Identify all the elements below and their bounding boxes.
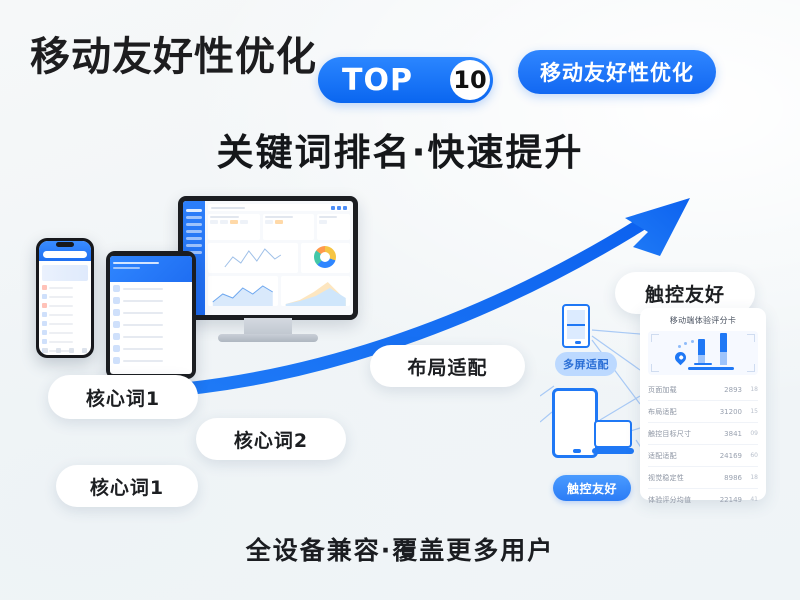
top-badge-word: TOP xyxy=(342,63,413,98)
desktop-monitor-mockup xyxy=(178,196,358,346)
score-card: 移动端体验评分卡 页面加载 2893 18 布局适配 31200 xyxy=(640,308,766,500)
tablet-list xyxy=(110,282,192,372)
score-row-label: 页面加载 xyxy=(648,385,716,395)
device-mockup-group xyxy=(28,196,348,396)
score-row-label: 体验评分均值 xyxy=(648,495,716,505)
score-row-delta: 41 xyxy=(742,496,758,503)
score-row-delta: 15 xyxy=(742,408,758,415)
score-row: 适配适配 24169 60 xyxy=(648,445,758,467)
score-row-label: 布局适配 xyxy=(648,407,716,417)
monitor-stand-base xyxy=(218,334,318,342)
phone-app-header xyxy=(39,241,91,261)
tablet-mockup xyxy=(106,251,196,379)
phone-search-bar xyxy=(43,251,87,258)
score-row: 体验评分均值 22149 41 xyxy=(648,489,758,510)
header-tag-pill: 移动友好性优化 xyxy=(518,50,716,94)
score-row: 布局适配 31200 15 xyxy=(648,401,758,423)
area-chart-small-1 xyxy=(208,276,278,306)
dashboard-body xyxy=(205,201,353,315)
keyword-pill-2: 核心词2 xyxy=(196,418,346,460)
score-row-delta: 18 xyxy=(742,474,758,481)
score-row-value: 2893 xyxy=(716,386,742,394)
keyword-pill-3: 核心词1 xyxy=(56,465,198,507)
top-rank-badge: TOP 10 xyxy=(318,57,493,103)
donut-chart-small xyxy=(301,243,350,273)
keyword-pill-layout-fit: 布局适配 xyxy=(370,345,525,387)
score-row-value: 24169 xyxy=(716,452,742,460)
score-row: 触控目标尺寸 3841 09 xyxy=(648,423,758,445)
page-title: 移动友好性优化 xyxy=(30,24,317,82)
score-row: 页面加载 2893 18 xyxy=(648,379,758,401)
score-row-label: 触控目标尺寸 xyxy=(648,429,716,439)
phone-notch xyxy=(56,242,74,247)
mobile-experience-diagram: 多屏适配 触控友好 移动端体验评分卡 页面加载 2893 xyxy=(540,300,780,515)
laptop-icon xyxy=(592,420,634,458)
area-chart-small-2 xyxy=(281,276,351,306)
footer-tagline: 全设备兼容·覆盖更多用户 xyxy=(0,531,800,567)
score-card-rows: 页面加载 2893 18 布局适配 31200 15 触控目标尺寸 3841 0… xyxy=(648,379,758,510)
score-row-delta: 09 xyxy=(742,430,758,437)
score-card-illustration xyxy=(648,331,758,375)
touch-friendly-pill: 触控友好 xyxy=(553,475,631,501)
score-row-label: 适配适配 xyxy=(648,451,716,461)
score-row-delta: 60 xyxy=(742,452,758,459)
score-card-title: 移动端体验评分卡 xyxy=(648,315,758,326)
page-subtitle: 关键词排名·快速提升 xyxy=(0,122,800,176)
poster-canvas: 移动友好性优化 TOP 10 移动友好性优化 关键词排名·快速提升 xyxy=(0,0,800,600)
tablet-app-header xyxy=(110,256,192,282)
monitor-screen xyxy=(178,196,358,320)
keyword-pill-1: 核心词1 xyxy=(48,375,198,419)
phone-result-list xyxy=(39,285,91,353)
phone-banner xyxy=(42,265,88,281)
phone-mockup xyxy=(36,238,94,358)
small-phone-icon xyxy=(562,304,590,348)
score-row-label: 视觉稳定性 xyxy=(648,473,716,483)
multi-screen-pill: 多屏适配 xyxy=(555,352,617,376)
score-row-value: 3841 xyxy=(716,430,742,438)
line-chart-small xyxy=(208,243,298,273)
phone-tab-bar xyxy=(39,348,91,353)
top-badge-number: 10 xyxy=(450,60,490,100)
score-row-delta: 18 xyxy=(742,386,758,393)
score-row-value: 22149 xyxy=(716,496,742,504)
score-row: 视觉稳定性 8986 18 xyxy=(648,467,758,489)
score-row-value: 8986 xyxy=(716,474,742,482)
score-row-value: 31200 xyxy=(716,408,742,416)
